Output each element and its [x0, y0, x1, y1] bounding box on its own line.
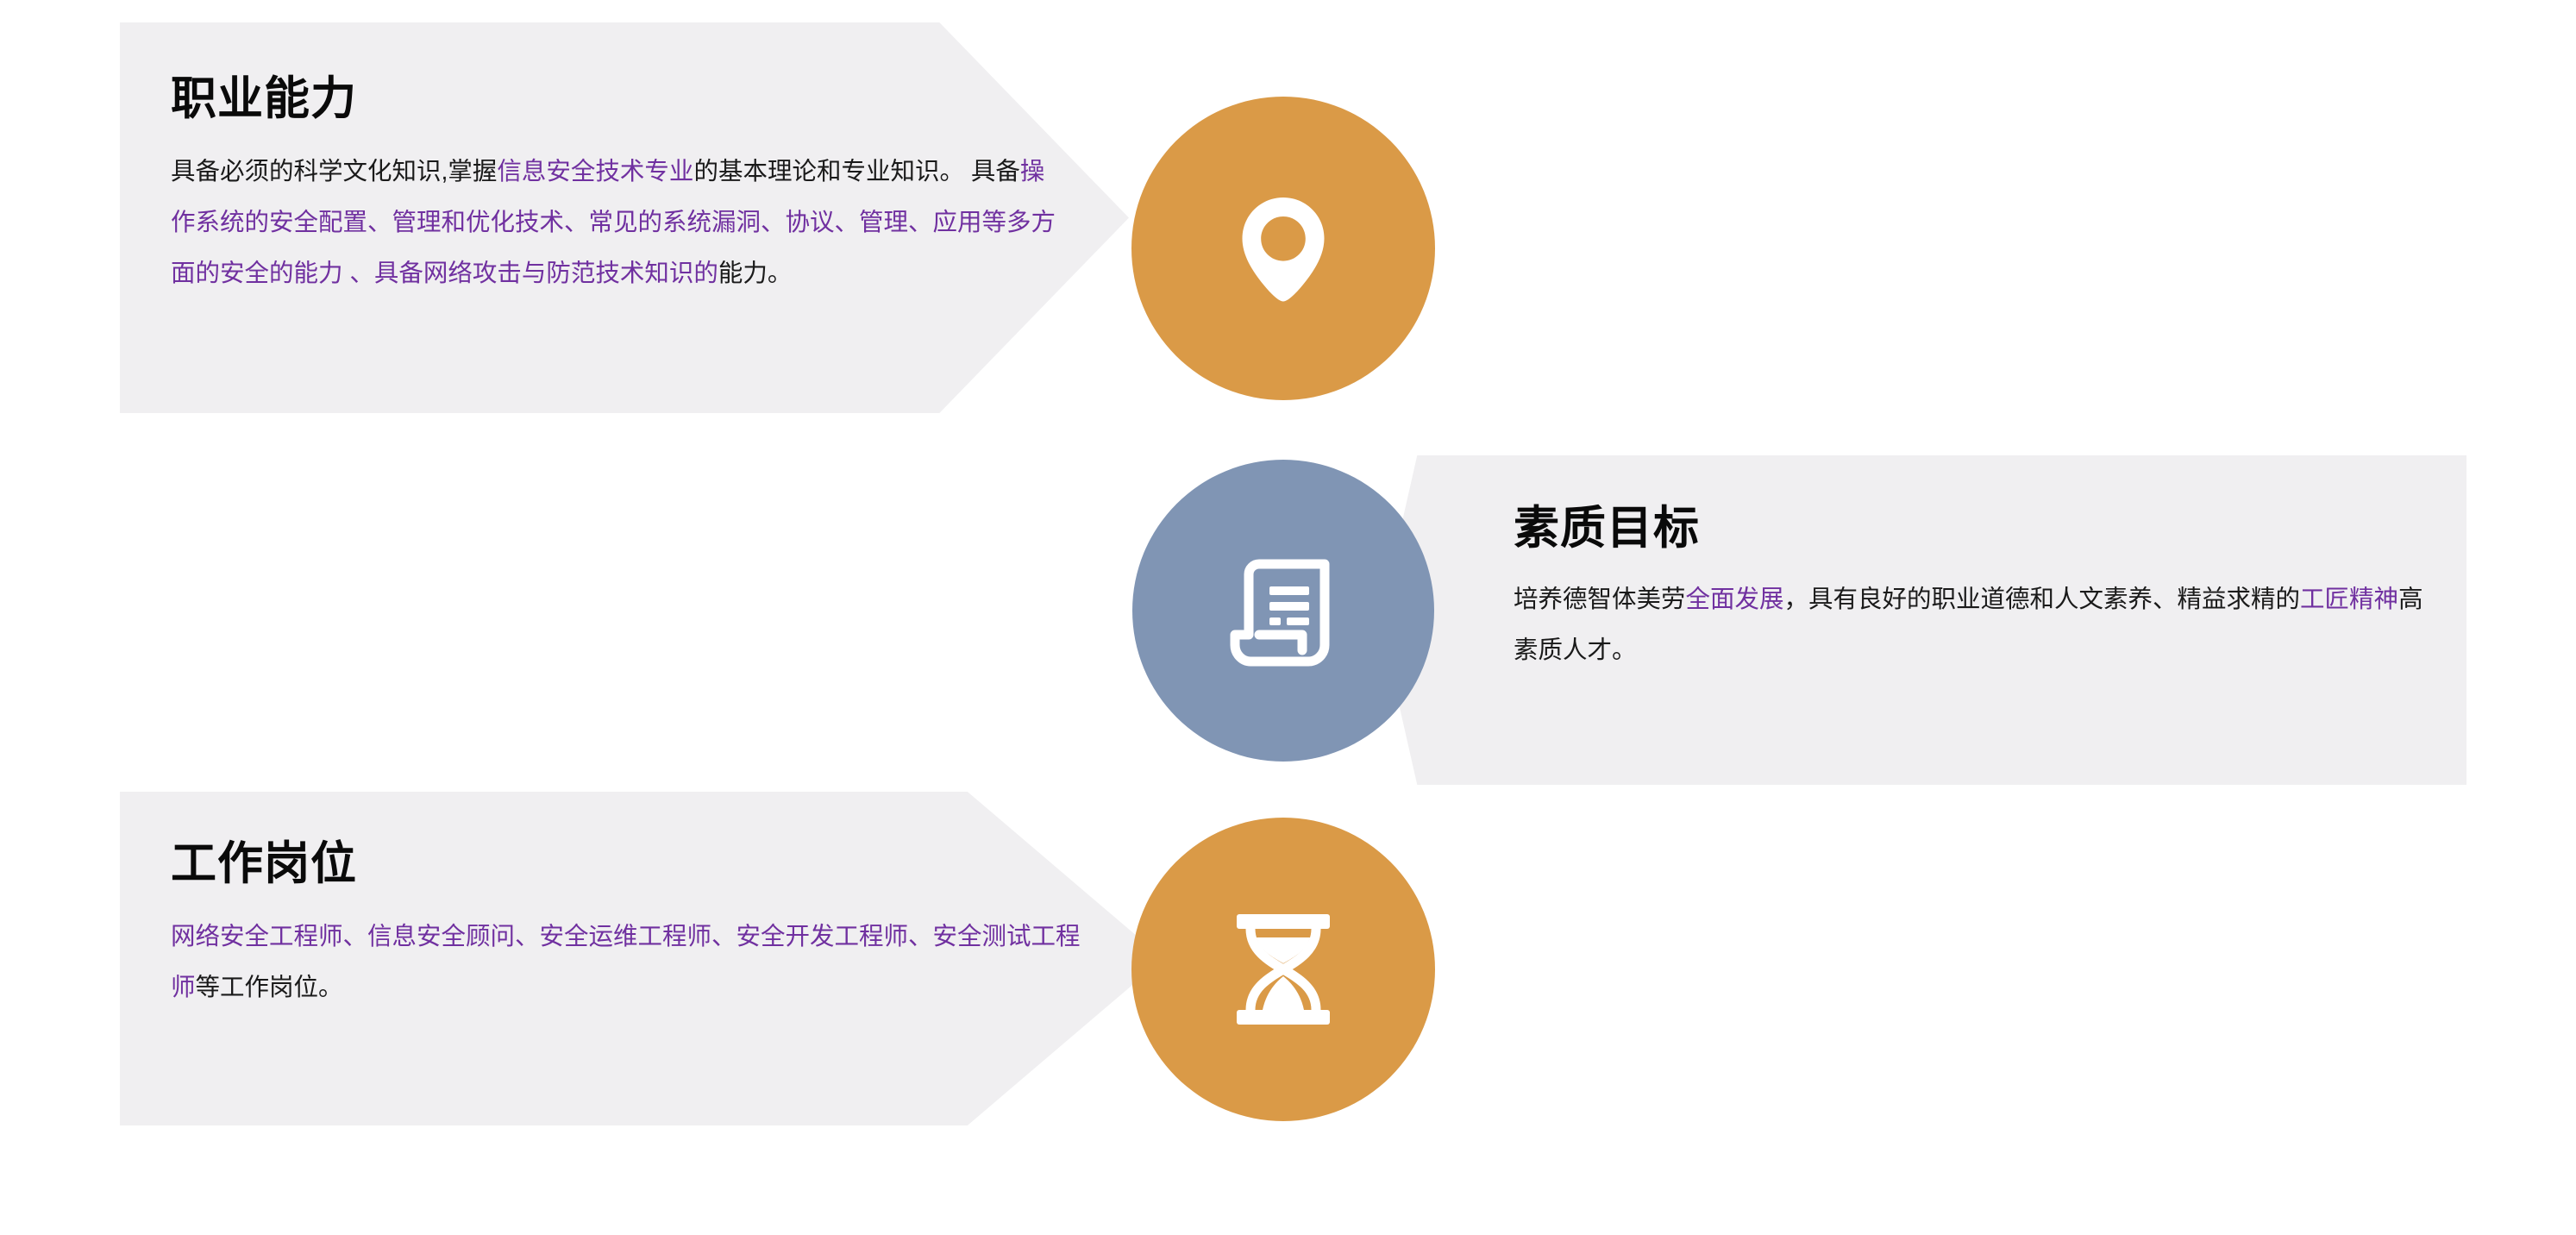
panel-body-job-positions: 网络安全工程师、信息安全顾问、安全运维工程师、安全开发工程师、安全测试工程师等工…	[171, 912, 1085, 1012]
location-pin-icon	[1232, 191, 1334, 305]
panel-job-positions: 工作岗位 网络安全工程师、信息安全顾问、安全运维工程师、安全开发工程师、安全测试…	[120, 792, 1163, 1125]
panel-vocational-ability: 职业能力 具备必须的科学文化知识,掌握信息安全技术专业的基本理论和专业知识。 具…	[120, 22, 1129, 413]
panel-content-job-positions: 工作岗位 网络安全工程师、信息安全顾问、安全运维工程师、安全开发工程师、安全测试…	[171, 839, 1085, 1013]
text-run: 具备必须的科学文化知识,掌握	[171, 158, 497, 185]
panel-title-quality-objectives: 素质目标	[1514, 504, 2436, 554]
panel-title-job-positions: 工作岗位	[171, 839, 1085, 889]
icon-circle-vocational-ability	[1131, 97, 1435, 400]
infographic-canvas: 职业能力 具备必须的科学文化知识,掌握信息安全技术专业的基本理论和专业知识。 具…	[0, 0, 2576, 1235]
scroll-document-icon	[1228, 552, 1338, 669]
panel-quality-objectives: 素质目标 培养德智体美劳全面发展，具有良好的职业道德和人文素养、精益求精的工匠精…	[1380, 455, 2466, 785]
text-run: 能力。	[718, 260, 793, 287]
panel-body-vocational-ability: 具备必须的科学文化知识,掌握信息安全技术专业的基本理论和专业知识。 具备操作系统…	[171, 147, 1059, 298]
hourglass-icon	[1232, 909, 1335, 1030]
highlighted-text-run: 工匠精神	[2300, 586, 2398, 613]
text-run: 培养德智体美劳	[1514, 586, 1686, 613]
highlighted-text-run: 全面发展	[1686, 586, 1784, 613]
text-run: 的基本理论和专业知识。 具备	[693, 158, 1019, 185]
text-run: ，具有良好的职业道德和人文素养、精益求精的	[1784, 586, 2301, 613]
text-run: 等工作岗位。	[196, 974, 343, 1001]
highlighted-text-run: 信息安全技术专业	[497, 158, 693, 185]
panel-content-quality-objectives: 素质目标 培养德智体美劳全面发展，具有良好的职业道德和人文素养、精益求精的工匠精…	[1514, 504, 2436, 676]
panel-title-vocational-ability: 职业能力	[171, 74, 1068, 124]
panel-body-quality-objectives: 培养德智体美劳全面发展，具有良好的职业道德和人文素养、精益求精的工匠精神高素质人…	[1514, 574, 2428, 675]
icon-circle-quality-objectives	[1132, 460, 1434, 762]
panel-content-vocational-ability: 职业能力 具备必须的科学文化知识,掌握信息安全技术专业的基本理论和专业知识。 具…	[171, 74, 1068, 298]
icon-circle-job-positions	[1131, 818, 1435, 1121]
